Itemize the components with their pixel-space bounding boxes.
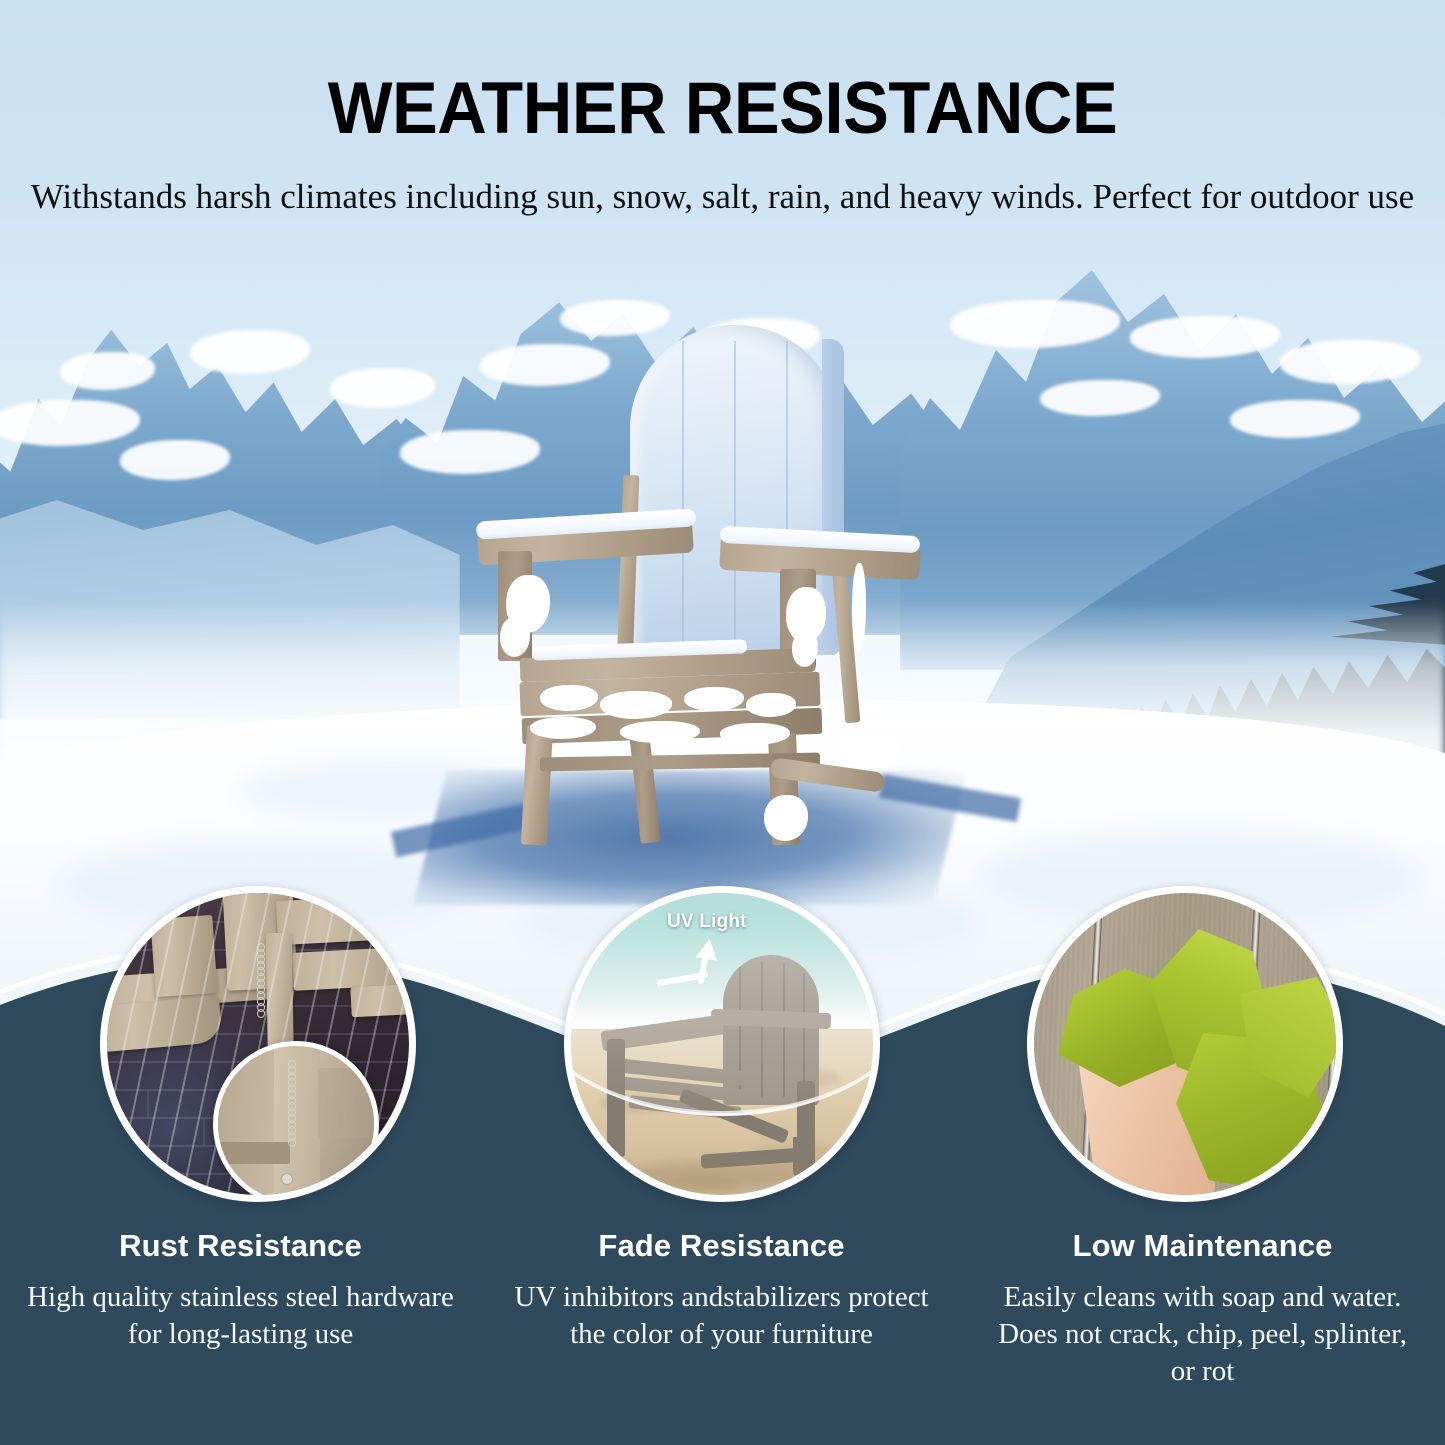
chair-snow-blob	[852, 563, 866, 653]
uv-light-label: UV Light	[667, 911, 747, 933]
feature-body: UV inhibitors andstabilizers protect the…	[507, 1279, 936, 1353]
feature-column-low-maintenance: Low Maintenance Easily cleans with soap …	[962, 1228, 1443, 1389]
feature-body: Easily cleans with soap and water. Does …	[988, 1279, 1417, 1389]
uv-arrow-icon	[657, 937, 727, 997]
feature-image-fade-resistance: UV Light	[564, 886, 880, 1202]
infographic-canvas: UV Light WEATHER RESISTANCE Withstands h…	[0, 0, 1445, 1445]
snow-cap	[330, 368, 435, 408]
page-subtitle: Withstands harsh climates including sun,…	[0, 172, 1445, 222]
feature-body: High quality stainless steel hardware fo…	[26, 1279, 455, 1353]
feature-columns: Rust Resistance High quality stainless s…	[0, 1228, 1445, 1389]
feature-image-low-maintenance	[1027, 886, 1343, 1202]
feature-title: Low Maintenance	[988, 1228, 1417, 1264]
snow-cap	[190, 330, 310, 374]
adirondack-chair	[470, 325, 940, 825]
page-title: WEATHER RESISTANCE	[43, 72, 1401, 145]
feature-title: Fade Resistance	[507, 1228, 936, 1264]
snow-cap	[1280, 340, 1420, 384]
chair-snow-blob	[838, 735, 898, 769]
chair-snow-blob	[620, 721, 700, 743]
beach-chair-shadow	[621, 1161, 811, 1189]
feature-column-fade-resistance: Fade Resistance UV inhibitors andstabili…	[481, 1228, 962, 1389]
feature-image-rust-resistance	[100, 886, 416, 1202]
feature-column-rust-resistance: Rust Resistance High quality stainless s…	[0, 1228, 481, 1389]
hardware-closeup-inset	[213, 1041, 379, 1195]
feature-title: Rust Resistance	[26, 1228, 455, 1264]
